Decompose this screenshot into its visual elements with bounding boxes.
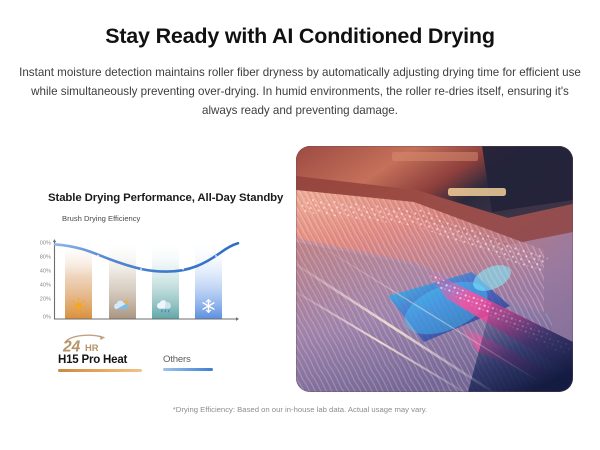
legend-item-label: H15 Pro Heat — [58, 354, 142, 369]
sun-icon — [71, 299, 86, 314]
chart-legend: 24 HR H15 Pro Heat Others — [58, 332, 288, 380]
legend-item-label: Others — [163, 354, 213, 368]
housing-slot — [392, 152, 478, 161]
legend-item-h15-pro-heat[interactable]: H15 Pro Heat — [58, 354, 142, 372]
brush-roller-closeup-photo — [296, 146, 573, 392]
badge-number: 24 — [62, 338, 81, 354]
drying-efficiency-chart: 100% 80% 40% 40% 20% 0% — [40, 236, 280, 332]
promo-page: Stay Ready with AI Conditioned Drying In… — [0, 0, 600, 450]
legend-item-others[interactable]: Others — [163, 354, 213, 371]
page-title: Stay Ready with AI Conditioned Drying — [0, 24, 600, 49]
chart-panel: Stable Drying Performance, All-Day Stand… — [18, 146, 286, 392]
svg-text:40%: 40% — [40, 269, 51, 275]
24hr-badge: 24 HR — [61, 332, 115, 354]
badge-unit: HR — [85, 342, 99, 353]
svg-text:80%: 80% — [40, 255, 51, 261]
svg-text:40%: 40% — [40, 283, 51, 289]
legend-color-rule — [163, 368, 213, 371]
photo-svg — [296, 146, 573, 392]
weather-icons — [71, 299, 214, 314]
y-axis-ticks: 100% 80% 40% 40% 20% 0% — [40, 241, 51, 321]
legend-color-rule — [58, 369, 142, 372]
svg-text:20%: 20% — [40, 297, 51, 303]
chart-axis-caption: Brush Drying Efficiency — [62, 214, 140, 223]
page-description: Instant moisture detection maintains rol… — [14, 64, 586, 120]
svg-text:100%: 100% — [40, 241, 51, 247]
24hr-badge-svg: 24 HR — [61, 332, 115, 354]
badge-arrowhead-icon — [100, 335, 104, 340]
svg-text:0%: 0% — [43, 315, 51, 321]
housing-highlight-bar — [448, 188, 506, 196]
chart-title: Stable Drying Performance, All-Day Stand… — [48, 192, 283, 204]
chart-bars — [65, 242, 222, 319]
photo-content — [296, 146, 573, 392]
footnote-disclaimer: *Drying Efficiency: Based on our in-hous… — [0, 405, 600, 414]
chart-svg: 100% 80% 40% 40% 20% 0% — [40, 236, 280, 332]
